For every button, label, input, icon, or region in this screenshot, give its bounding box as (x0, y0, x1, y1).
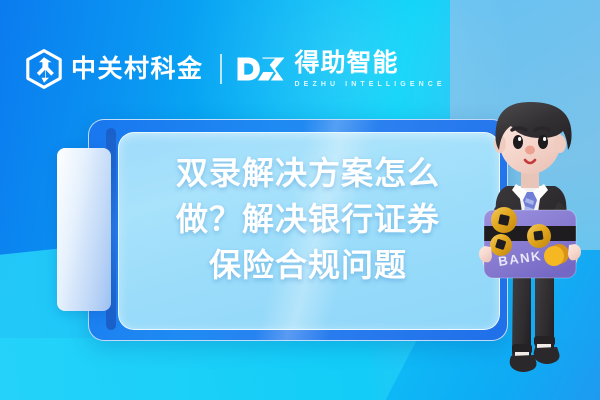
card-side-tab (57, 148, 111, 311)
partner-brand: 得助智能 DEZHU INTELLIGENCE (236, 51, 446, 88)
businessman-illustration: BANK (455, 86, 600, 386)
chinese-coin-icon (491, 207, 517, 233)
brand-header: 中关村科金 得助智能 DEZHU INTELLIGENCE (26, 47, 446, 91)
banner-canvas: 中关村科金 得助智能 DEZHU INTELLIGENCE 双录解决方案怎么 (0, 0, 600, 400)
card-content-panel (118, 132, 500, 330)
card-content-sheen (119, 133, 499, 329)
partner-name-cn: 得助智能 (295, 51, 446, 76)
brand-divider (220, 54, 222, 84)
dz-monogram-icon (236, 55, 288, 83)
character-legs (510, 272, 560, 372)
chinese-coin-icon (527, 224, 551, 248)
brand-name-cn: 中关村科金 (71, 57, 204, 82)
cube-hexagon-logo-icon (26, 49, 62, 89)
partner-name-en: DEZHU INTELLIGENCE (295, 81, 446, 88)
bank-card: BANK (484, 207, 576, 278)
character-head (494, 102, 572, 188)
banner-title-sr: 双录解决方案怎么做？解决银行证券保险合规问题 (0, 0, 1, 1)
